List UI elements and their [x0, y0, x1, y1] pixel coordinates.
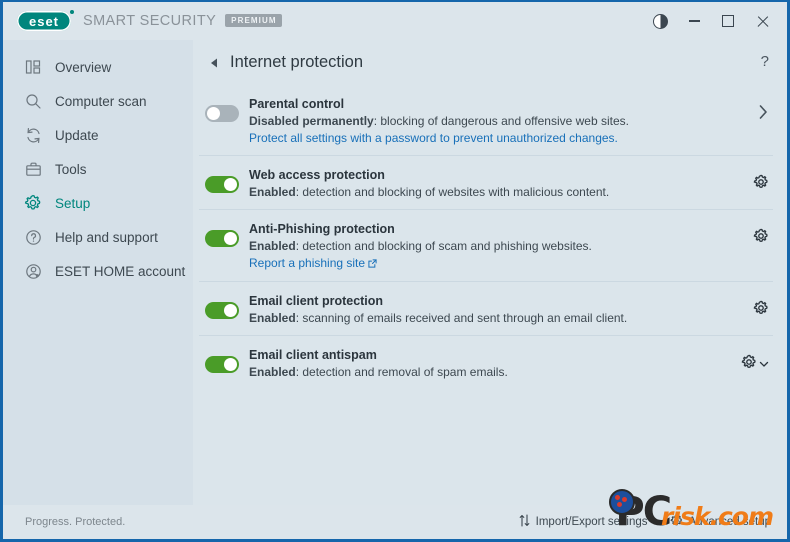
- maximize-icon: [722, 15, 734, 27]
- sidebar-item-label: Setup: [55, 196, 90, 211]
- row-title: Email client protection: [249, 293, 753, 309]
- question-icon: [23, 227, 43, 247]
- title-bar: eset SMART SECURITY PREMIUM: [3, 2, 787, 40]
- sidebar-item-tools[interactable]: Tools: [3, 152, 193, 186]
- row-description: Enabled: detection and blocking of websi…: [249, 184, 753, 200]
- row-title: Web access protection: [249, 167, 753, 183]
- protect-settings-password-link[interactable]: Protect all settings with a password: [249, 131, 436, 145]
- row-desc-text: : blocking of dangerous and offensive we…: [374, 114, 629, 128]
- row-text: Email client protection Enabled: scannin…: [249, 292, 753, 326]
- row-text: Anti-Phishing protection Enabled: detect…: [249, 220, 753, 272]
- advanced-setup-button[interactable]: Advanced setup: [670, 514, 771, 530]
- help-icon[interactable]: ?: [761, 53, 769, 70]
- gear-icon: [670, 514, 683, 530]
- row-description: Enabled: scanning of emails received and…: [249, 310, 753, 326]
- toggle-knob: [224, 304, 237, 317]
- row-web-access-protection: Web access protection Enabled: detection…: [199, 156, 773, 210]
- row-status: Enabled: [249, 239, 296, 253]
- gear-icon: [741, 354, 757, 375]
- row-desc-text: : scanning of emails received and sent t…: [296, 311, 628, 325]
- chevron-right-icon: [757, 103, 769, 126]
- back-arrow-icon[interactable]: [205, 54, 223, 72]
- import-export-settings-button[interactable]: Import/Export settings: [519, 514, 648, 530]
- toggle-knob: [207, 107, 220, 120]
- dashboard-icon: [23, 57, 43, 77]
- row-email-client-protection: Email client protection Enabled: scannin…: [199, 282, 773, 336]
- sidebar-item-overview[interactable]: Overview: [3, 50, 193, 84]
- toggle-web-access-protection[interactable]: [205, 176, 239, 193]
- row-status: Enabled: [249, 311, 296, 325]
- row-title: Email client antispam: [249, 347, 741, 363]
- contrast-icon: [653, 14, 668, 29]
- search-icon: [23, 91, 43, 111]
- sidebar-item-label: Update: [55, 128, 99, 143]
- row-text: Email client antispam Enabled: detection…: [249, 346, 741, 380]
- row-title: Anti-Phishing protection: [249, 221, 753, 237]
- window-controls: [643, 2, 779, 40]
- row-text: Web access protection Enabled: detection…: [249, 166, 753, 200]
- chevron-down-icon: [759, 356, 769, 374]
- toolbox-icon: [23, 159, 43, 179]
- footer-bar: Progress. Protected. Import/Export setti…: [3, 505, 787, 539]
- settings-rows: Parental control Disabled permanently: b…: [193, 85, 787, 389]
- sidebar-item-label: Overview: [55, 60, 111, 75]
- row-desc-text: : detection and removal of spam emails.: [296, 365, 508, 379]
- row-status: Disabled permanently: [249, 114, 374, 128]
- sidebar-item-help-and-support[interactable]: Help and support: [3, 220, 193, 254]
- row-action[interactable]: [757, 103, 769, 126]
- gear-icon: [753, 228, 769, 249]
- row-parental-control: Parental control Disabled permanently: b…: [199, 85, 773, 156]
- import-export-icon: [519, 514, 530, 530]
- sidebar-item-label: ESET HOME account: [55, 264, 185, 279]
- window-body: Overview Computer scan: [3, 40, 787, 505]
- minimize-icon: [689, 20, 700, 21]
- refresh-icon: [23, 125, 43, 145]
- sidebar-item-eset-home-account[interactable]: ESET HOME account: [3, 254, 193, 288]
- toggle-email-client-antispam[interactable]: [205, 356, 239, 373]
- page-header: Internet protection ?: [193, 40, 787, 85]
- row-text: Parental control Disabled permanently: b…: [249, 95, 757, 146]
- eset-logo-text: eset: [29, 14, 59, 29]
- row-anti-phishing-protection: Anti-Phishing protection Enabled: detect…: [199, 210, 773, 282]
- sidebar-item-update[interactable]: Update: [3, 118, 193, 152]
- row-description: Disabled permanently: blocking of danger…: [249, 113, 757, 129]
- sidebar-item-label: Computer scan: [55, 94, 147, 109]
- tagline: Progress. Protected.: [25, 516, 125, 528]
- external-link-icon: [368, 256, 377, 272]
- toggle-email-client-protection[interactable]: [205, 302, 239, 319]
- sidebar-item-label: Help and support: [55, 230, 158, 245]
- row-status: Enabled: [249, 365, 296, 379]
- toggle-knob: [224, 232, 237, 245]
- page-title: Internet protection: [230, 53, 363, 72]
- toggle-anti-phishing-protection[interactable]: [205, 230, 239, 247]
- gear-icon: [23, 193, 43, 213]
- gear-icon: [753, 174, 769, 195]
- row-desc-text: : detection and blocking of scam and phi…: [296, 239, 592, 253]
- row-status: Enabled: [249, 185, 296, 199]
- row-action[interactable]: [741, 354, 769, 375]
- close-icon: [756, 15, 769, 28]
- toggle-parental-control[interactable]: [205, 105, 239, 122]
- sidebar: Overview Computer scan: [3, 40, 193, 505]
- row-action[interactable]: [753, 174, 769, 195]
- eset-main-window: eset SMART SECURITY PREMIUM: [0, 0, 790, 542]
- maximize-button[interactable]: [711, 6, 745, 36]
- close-button[interactable]: [745, 6, 779, 36]
- contrast-toggle-button[interactable]: [643, 6, 677, 36]
- row-link-line: Protect all settings with a password to …: [249, 130, 757, 146]
- row-email-client-antispam: Email client antispam Enabled: detection…: [199, 336, 773, 389]
- row-link-line: Report a phishing site: [249, 255, 753, 272]
- row-action[interactable]: [753, 228, 769, 249]
- import-export-settings-label: Import/Export settings: [536, 516, 648, 528]
- edition-badge: PREMIUM: [225, 14, 281, 27]
- row-link-suffix: to prevent unauthorized changes.: [436, 131, 617, 145]
- main-content: Internet protection ? Parental control D…: [193, 40, 787, 505]
- sidebar-item-label: Tools: [55, 162, 87, 177]
- sidebar-item-computer-scan[interactable]: Computer scan: [3, 84, 193, 118]
- toggle-knob: [224, 358, 237, 371]
- suite-name: SMART SECURITY: [83, 13, 216, 29]
- report-phishing-site-link[interactable]: Report a phishing site: [249, 256, 365, 270]
- row-description: Enabled: detection and blocking of scam …: [249, 238, 753, 254]
- toggle-knob: [224, 178, 237, 191]
- sidebar-item-setup[interactable]: Setup: [3, 186, 193, 220]
- minimize-button[interactable]: [677, 6, 711, 36]
- row-title: Parental control: [249, 96, 757, 112]
- gear-icon: [753, 300, 769, 321]
- row-description: Enabled: detection and removal of spam e…: [249, 364, 741, 380]
- row-action[interactable]: [753, 300, 769, 321]
- footer-actions: Import/Export settings Advanced setup: [519, 514, 771, 530]
- row-desc-text: : detection and blocking of websites wit…: [296, 185, 610, 199]
- user-icon: [23, 261, 43, 281]
- eset-logo: eset: [17, 11, 71, 31]
- advanced-setup-label: Advanced setup: [689, 516, 771, 528]
